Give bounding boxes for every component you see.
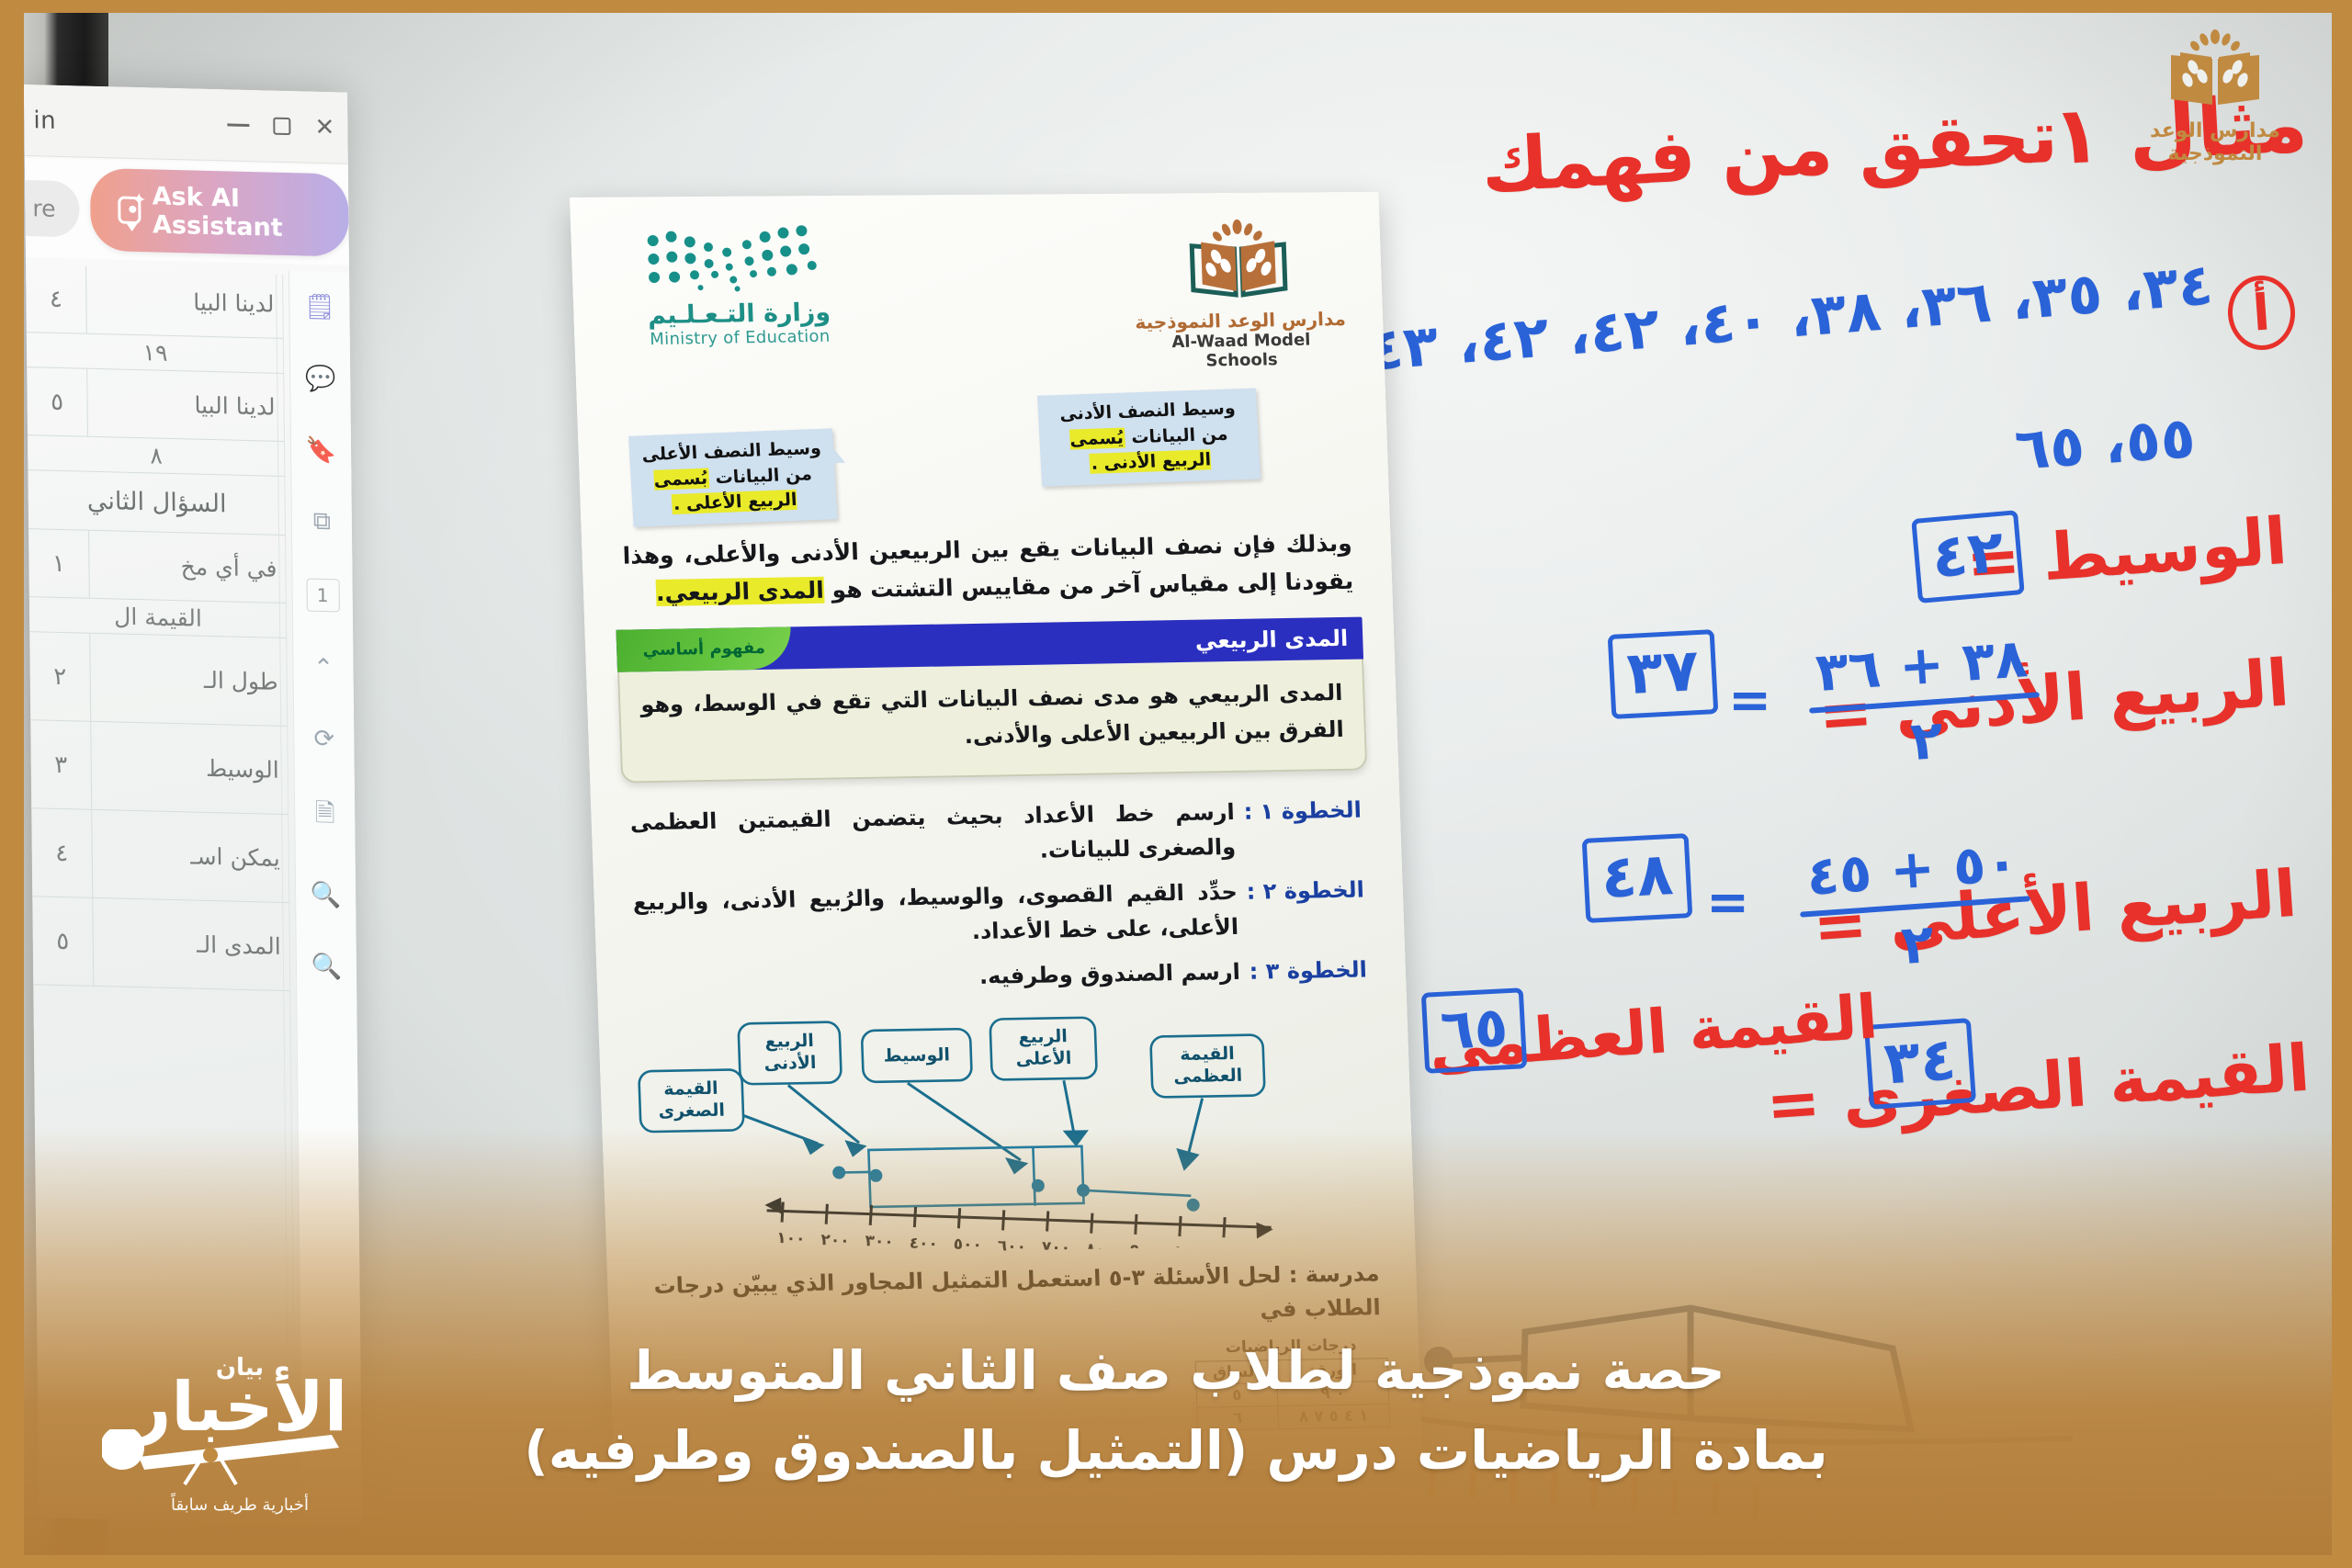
watermark-school-name: مدارس الوعد النموذجية	[2109, 119, 2321, 165]
callout-upper-quartile: وسيط النصف الأعلى من البيانات بُسمى الرب…	[628, 428, 837, 526]
zoom-out-icon[interactable]: 🔍	[311, 952, 342, 982]
secondary-button[interactable]: re	[24, 179, 80, 237]
window-title: in	[33, 107, 56, 135]
ask-ai-assistant-label: Ask AI Assistant	[153, 182, 322, 243]
caption-line-2: بمادة الرياضيات درس (التمثيل بالصندوق وط…	[110, 1411, 2242, 1491]
maximize-icon[interactable]	[273, 118, 290, 135]
step-key: الخطوة ٣ :	[1249, 952, 1367, 989]
minimize-icon[interactable]	[228, 123, 250, 127]
news-agency-logo: بيان الأخبار أخبارية طريف سابقاً	[88, 1354, 391, 1551]
key-concept-box: المدى الربيعي مفهوم أساسي المدى الربيعي …	[616, 616, 1367, 784]
step-key: الخطوة ١ :	[1243, 793, 1363, 865]
concept-title: المدى الربيعي	[1194, 625, 1348, 653]
step-value: ارسم خط الأعداد بحيث يتضمن القيمتين العظ…	[629, 795, 1237, 875]
refresh-icon[interactable]: ⟳	[313, 725, 334, 754]
lower-quartile-numerator: ٣٨ + ٣٦	[1804, 626, 2039, 704]
chevron-up-icon[interactable]: ⌃	[313, 654, 334, 683]
al-waad-logo: مدارس الوعد النموذجية Al-Waad Model Scho…	[1131, 216, 1348, 372]
data-values-line-2: ٥٥، ٦٥	[2013, 403, 2198, 483]
app-toolbar: re ✦ Ask AI Assistant	[25, 158, 349, 265]
row-number: ٥	[32, 897, 94, 986]
step-item: الخطوة ٢ : حدِّد القيم القصوى، والوسيط، …	[632, 872, 1366, 955]
fig-label-q3: الربيع	[1018, 1026, 1068, 1047]
file-icon[interactable]: 🗎	[315, 795, 335, 839]
frame-left	[0, 0, 24, 1568]
minimum-value: ٣٤	[1864, 1018, 1976, 1110]
fig-label-q1b: الأدنى	[763, 1052, 817, 1074]
window-titlebar: in ✕	[24, 85, 348, 164]
row-text: طول الـ	[90, 634, 288, 726]
paragraph-highlight: المدى الربيعي.	[656, 577, 825, 606]
step-value: حدِّد القيم القصوى، والوسيط، والرُبيع ال…	[632, 874, 1239, 955]
lower-quartile-denominator: ٢	[1909, 708, 1946, 773]
row-number: ٣	[30, 720, 92, 809]
maximum-value: ٦٥	[1421, 987, 1528, 1074]
quartile-callouts: وسيط النصف الأدنى من البيانات يُسمى الرب…	[608, 383, 1359, 534]
section-header-question-two: السؤال الثاني	[28, 470, 286, 536]
upper-quartile-value: ٤٨	[1582, 833, 1693, 923]
step-item: الخطوة ٣ : ارسم الصندوق وطرفيه.	[635, 952, 1367, 999]
frame-bottom	[0, 1555, 2352, 1568]
fig-label-q1: الربيع	[764, 1031, 814, 1052]
al-waad-name-en: Al-Waad Model Schools	[1136, 330, 1348, 372]
close-icon[interactable]: ✕	[314, 115, 334, 140]
lower-quartile-value: ٣٧	[1608, 629, 1719, 719]
window-controls[interactable]: ✕	[227, 113, 334, 140]
poster-logos: مدارس الوعد النموذجية Al-Waad Model Scho…	[602, 212, 1353, 381]
row-number: ٢	[29, 632, 91, 721]
check-understanding-title: تحقق من فهمك	[1479, 94, 2060, 209]
table-row[interactable]: لدينا البيا ٤ ١٩	[26, 265, 284, 374]
moe-name-ar: وزارة التـعـلـيم	[610, 298, 868, 331]
table-row[interactable]: يمكن اسـ ٤	[31, 808, 289, 903]
equals-sign-2: =	[1706, 873, 1749, 932]
fig-label-max: القيمة	[1180, 1043, 1235, 1065]
saudi-dots-map-icon	[639, 225, 835, 295]
row-text: في أي مخ	[89, 531, 287, 603]
table-row[interactable]: في أي مخ ١ القيمة ال	[28, 529, 287, 638]
lower-quartile-formula: ٣٨ + ٣٦ ٢	[1804, 626, 2043, 779]
step-item: الخطوة ١ : ارسم خط الأعداد بحيث يتضمن ال…	[629, 793, 1363, 876]
table-row[interactable]: طول الـ ٢	[29, 632, 288, 727]
fig-label-min2: الصغرى	[658, 1100, 725, 1122]
equals-sign: =	[1728, 671, 1771, 730]
step-key: الخطوة ٢ :	[1246, 872, 1366, 944]
fig-label-min: القيمة	[663, 1078, 718, 1100]
open-book-tree-icon	[2160, 28, 2270, 112]
frame-top	[0, 0, 2352, 13]
row-number: ٥	[27, 367, 88, 436]
page-number-box[interactable]: 1	[306, 579, 339, 613]
row-text: لدينا البيا	[87, 369, 285, 441]
zoom-in-icon[interactable]: 🔍	[311, 880, 342, 910]
ask-ai-assistant-button[interactable]: ✦ Ask AI Assistant	[90, 168, 349, 257]
news-logo-tagline: أخبارية طريف سابقاً	[88, 1495, 391, 1515]
fig-label-q3b: الأعلى	[1015, 1047, 1071, 1069]
table-row[interactable]: لدينا البيا ٥ ٨	[27, 367, 285, 477]
row-text: لدينا البيا	[86, 266, 284, 338]
row-text: يمكن اسـ	[92, 810, 289, 902]
frame-right	[2332, 0, 2352, 1568]
ai-sparkle-chat-icon: ✦	[118, 197, 141, 225]
al-waad-name-ar: مدارس الوعد النموذجية	[1135, 308, 1347, 333]
photo-canvas: in ✕ re ✦ Ask AI Assistant	[0, 0, 2352, 1568]
row-text: المدى الـ	[93, 898, 290, 990]
comment-icon[interactable]: 💬	[305, 363, 336, 393]
row-subvalue: ٨	[28, 434, 285, 476]
table-row[interactable]: الوسيط ٣	[30, 720, 288, 815]
row-subvalue: القيمة ال	[29, 596, 287, 637]
upper-quartile-denominator: ٢	[1900, 912, 1937, 976]
circled-letter-alef: أ	[2226, 274, 2298, 353]
ministry-of-education-logo: وزارة التـعـلـيم Ministry of Education	[607, 224, 869, 350]
open-book-tree-icon	[1182, 217, 1295, 301]
telescope-icon	[102, 1429, 378, 1486]
row-text: الوسيط	[91, 722, 288, 814]
upper-quartile-numerator: ٥٠ + ٤٥	[1795, 829, 2030, 908]
row-subvalue: ١٩	[27, 332, 284, 373]
row-number: ٤	[31, 808, 93, 897]
bookmark-icon[interactable]: 🔖	[306, 435, 337, 466]
concept-tag: مفهوم أساسي	[616, 626, 792, 671]
fig-label-median: الوسيط	[883, 1044, 950, 1066]
row-number: ١	[28, 529, 90, 598]
step-value: ارسم الصندوق وطرفيه.	[635, 954, 1240, 1000]
upper-quartile-formula: ٥٠ + ٤٥ ٢	[1795, 829, 2034, 983]
concept-body: المدى الربيعي هو مدى نصف البيانات التي ت…	[617, 659, 1367, 784]
fig-label-max2: العظمى	[1173, 1066, 1243, 1087]
row-number: ٤	[26, 265, 87, 333]
table-row[interactable]: المدى الـ ٥	[32, 897, 290, 991]
school-watermark: مدارس الوعد النموذجية	[2109, 28, 2321, 165]
copy-icon[interactable]: ⧉	[313, 507, 332, 536]
poster-paragraph: وبذلك فإن نصف البيانات يقع بين الربيعين …	[613, 521, 1362, 614]
caption-line-1: حصة نموذجية لطلاب صف الثاني المتوسط	[110, 1331, 2242, 1411]
moe-name-en: Ministry of Education	[611, 326, 869, 350]
callout-lower-quartile: وسيط النصف الأدنى من البيانات يُسمى الرب…	[1037, 389, 1261, 487]
steps-list: الخطوة ١ : ارسم خط الأعداد بحيث يتضمن ال…	[622, 793, 1374, 1000]
median-value: ٤٢	[1911, 510, 2025, 604]
note-edit-icon[interactable]: 🗒	[304, 291, 336, 321]
callout-tail	[822, 448, 845, 464]
